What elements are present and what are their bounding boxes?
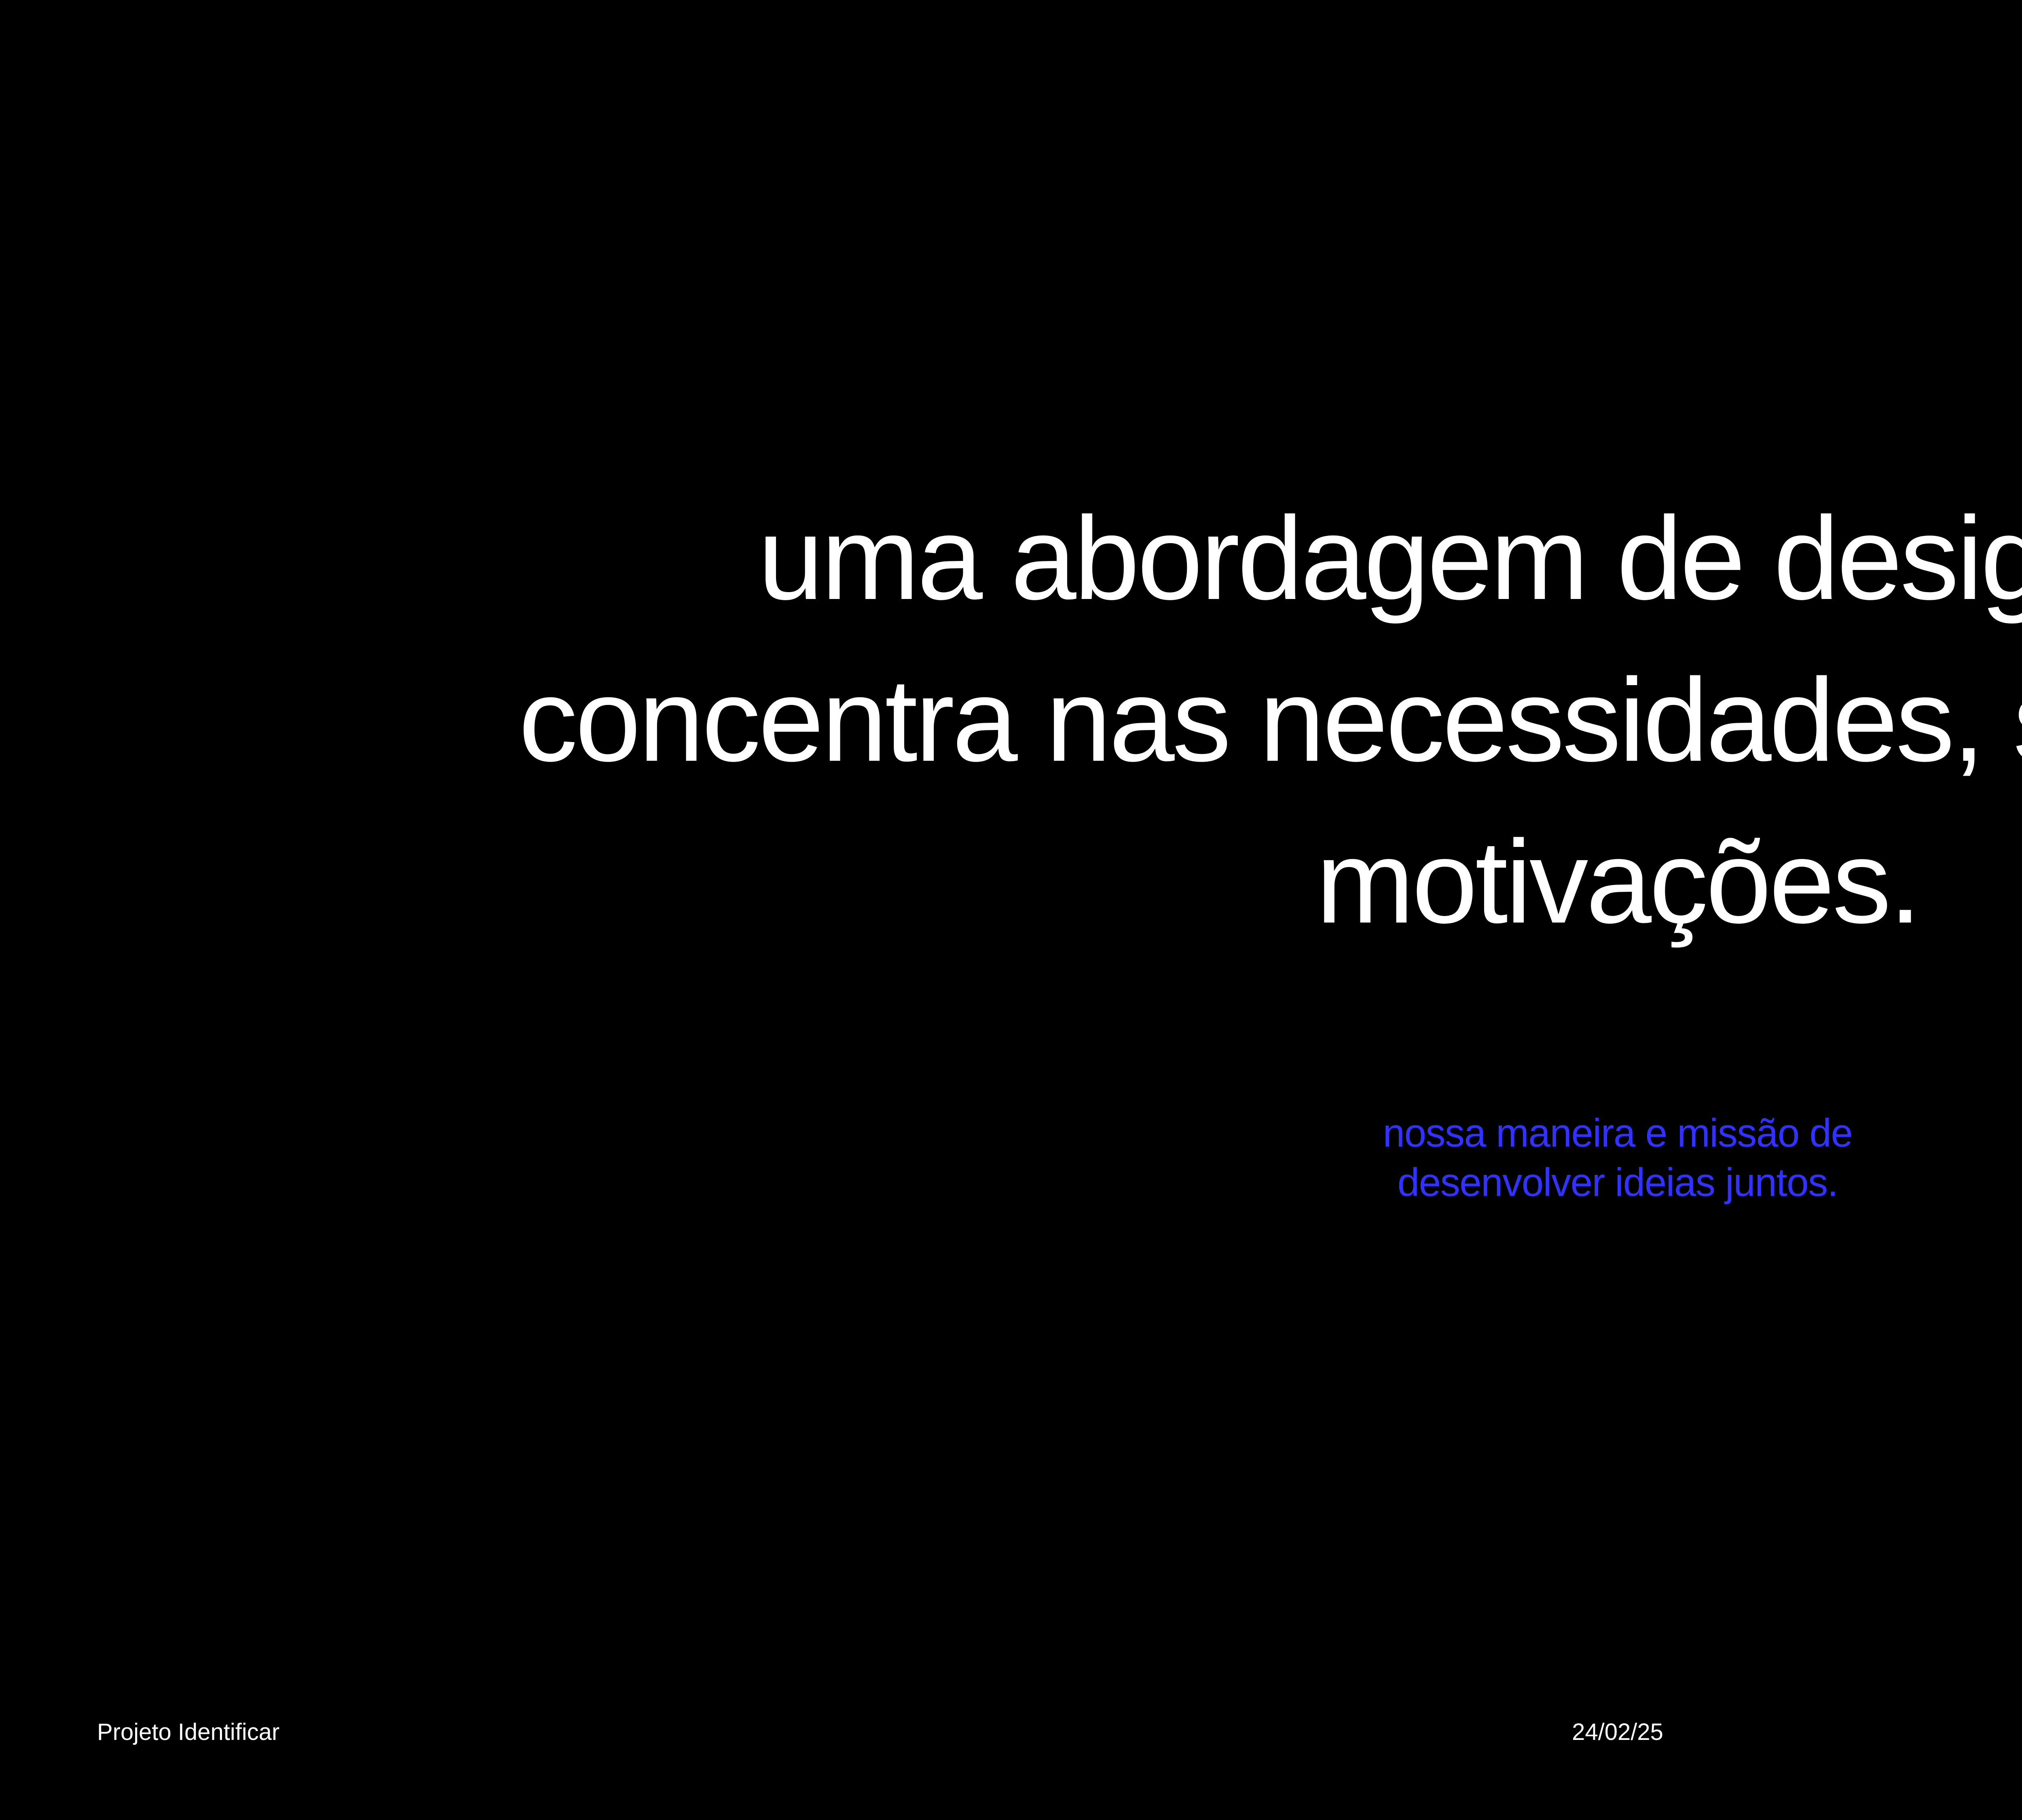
subtitle-line-2: desenvolver ideias juntos. (930, 1158, 2022, 1207)
headline-line-3: motivações. (57, 801, 2022, 963)
slide-content: uma abordagem de design que se concentra… (0, 0, 2022, 1820)
footer-project-name: Projeto Identificar (97, 1718, 279, 1746)
headline-line-1: uma abordagem de design que se (57, 477, 2022, 639)
headline-line-2: concentra nas necessidades, sentimentos … (57, 639, 2022, 801)
slide-footer: Projeto Identificar 24/02/25 3 (0, 1718, 2022, 1754)
presentation-slide: uma abordagem de design que se concentra… (0, 0, 2022, 1820)
subtitle-line-1: nossa maneira e missão de (930, 1108, 2022, 1158)
slide-subtitle: nossa maneira e missão de desenvolver id… (930, 1108, 2022, 1207)
footer-date: 24/02/25 (1572, 1718, 1663, 1746)
slide-headline: uma abordagem de design que se concentra… (57, 477, 2022, 963)
